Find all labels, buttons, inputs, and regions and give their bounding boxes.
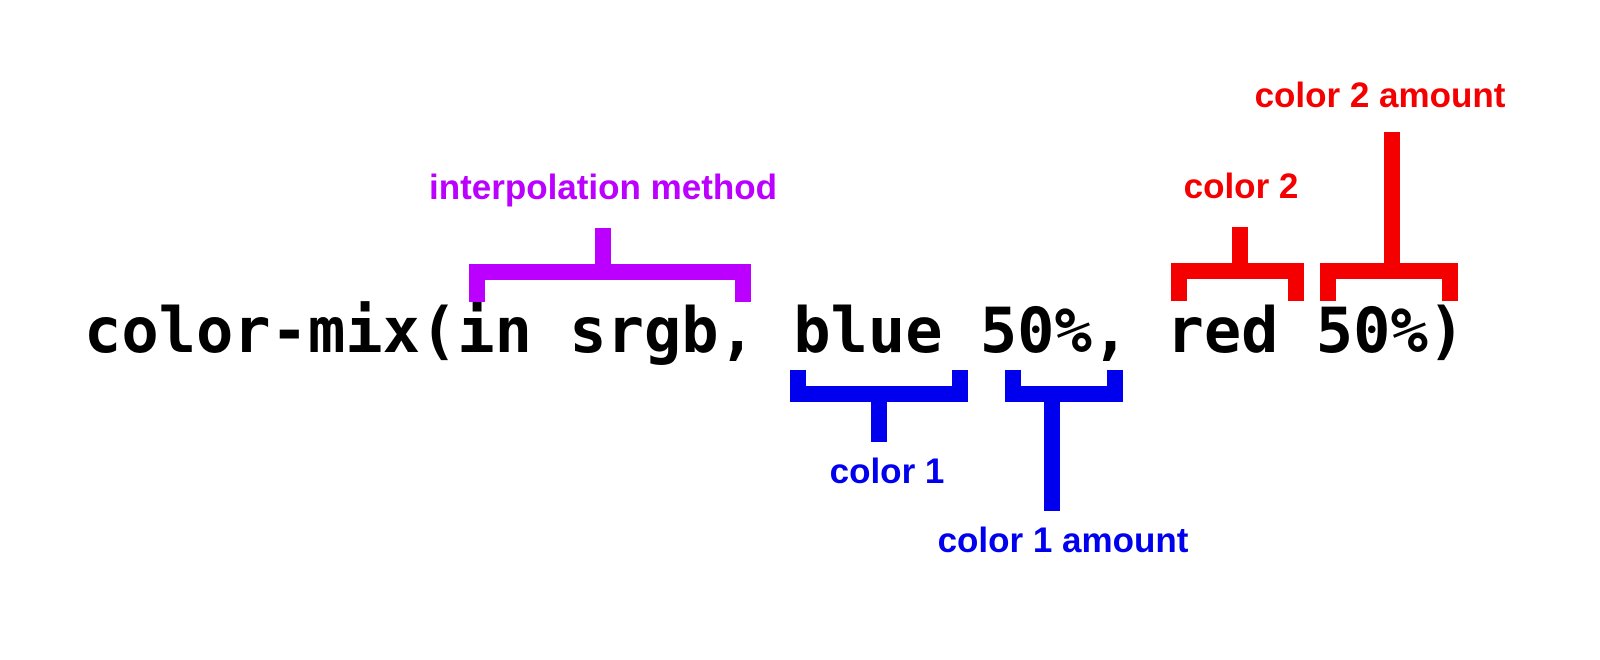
color-2-amount-bracket-right-tick	[1442, 263, 1458, 301]
interpolation-method-bracket-bar	[469, 264, 751, 280]
color-1-label: color 1	[830, 452, 945, 492]
interpolation-method-bracket-right-tick	[735, 264, 751, 302]
color-1-amount-label: color 1 amount	[938, 521, 1189, 561]
color-1-amount-bracket-left-tick	[1005, 370, 1021, 402]
color-1-amount-bracket-right-tick	[1107, 370, 1123, 402]
interpolation-method-bracket-left-tick	[469, 264, 485, 302]
color-2-stem	[1232, 227, 1248, 268]
color-2-amount-bracket-bar	[1320, 263, 1458, 279]
color-2-amount-bracket-left-tick	[1320, 263, 1336, 301]
color-1-bracket-right-tick	[952, 370, 968, 402]
color-2-amount-stem	[1384, 132, 1400, 268]
color-1-bracket-left-tick	[790, 370, 806, 402]
interpolation-method-label: interpolation method	[429, 168, 777, 208]
color-1-amount-bracket-bar	[1005, 386, 1123, 402]
color-1-stem	[871, 386, 887, 442]
color-2-amount-label: color 2 amount	[1255, 76, 1506, 116]
interpolation-method-stem	[595, 228, 611, 268]
code-expression: color-mix(in srgb, blue 50%, red 50%)	[84, 296, 1465, 366]
diagram-canvas: color-mix(in srgb, blue 50%, red 50%) in…	[0, 0, 1600, 660]
color-2-bracket-bar	[1171, 263, 1304, 279]
color-2-bracket-left-tick	[1171, 263, 1187, 301]
color-1-amount-stem	[1044, 386, 1060, 511]
color-2-bracket-right-tick	[1288, 263, 1304, 301]
color-2-label: color 2	[1184, 167, 1299, 207]
